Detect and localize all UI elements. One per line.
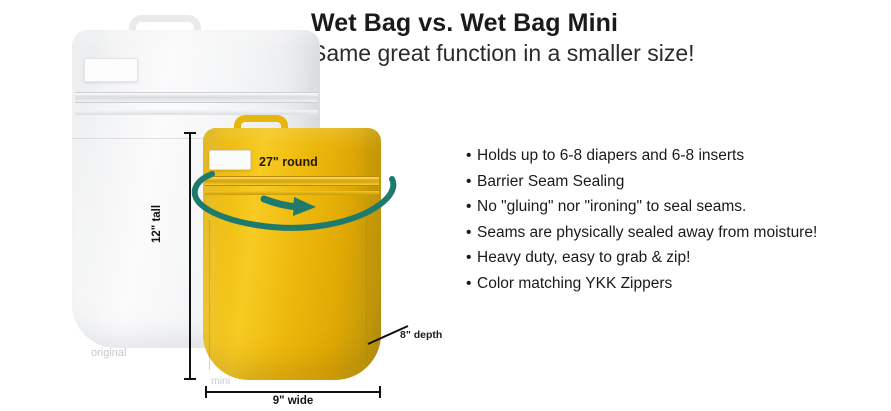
bullet-glyph: • xyxy=(466,194,477,220)
list-item: •Seams are physically sealed away from m… xyxy=(466,220,886,246)
list-item: •No "gluing" nor "ironing" to seal seams… xyxy=(466,194,886,220)
feature-list: •Holds up to 6-8 diapers and 6-8 inserts… xyxy=(466,143,886,296)
list-item-label: Seams are physically sealed away from mo… xyxy=(477,224,817,241)
list-item-label: Color matching YKK Zippers xyxy=(477,275,672,292)
bullet-glyph: • xyxy=(466,220,477,246)
list-item: •Barrier Seam Sealing xyxy=(466,169,886,195)
list-item: •Holds up to 6-8 diapers and 6-8 inserts xyxy=(466,143,886,169)
list-item-label: No "gluing" nor "ironing" to seal seams. xyxy=(477,198,746,215)
width-label: 9" wide xyxy=(205,395,381,407)
caption-original: original xyxy=(91,347,126,359)
zipper-secondary-original xyxy=(75,110,318,115)
zipper-original xyxy=(75,92,318,103)
circumference-label: 27" round xyxy=(259,155,318,169)
list-item-label: Holds up to 6-8 diapers and 6-8 inserts xyxy=(477,147,744,164)
caption-mini: mini xyxy=(211,375,230,387)
brand-tag-original xyxy=(84,58,138,82)
bullet-glyph: • xyxy=(466,169,477,195)
height-label: 12" tall xyxy=(151,205,163,243)
height-cap-top xyxy=(184,132,196,134)
depth-label: 8" depth xyxy=(400,329,442,341)
circumference-arrow-icon xyxy=(186,165,404,235)
bullet-glyph: • xyxy=(466,271,477,297)
page-subtitle: Same great function in a smaller size! xyxy=(311,39,731,68)
bullet-glyph: • xyxy=(466,245,477,271)
list-item: •Heavy duty, easy to grab & zip! xyxy=(466,245,886,271)
bullet-glyph: • xyxy=(466,143,477,169)
height-dimension-line xyxy=(189,132,191,380)
list-item-label: Barrier Seam Sealing xyxy=(477,173,624,190)
list-item: •Color matching YKK Zippers xyxy=(466,271,886,297)
page-title: Wet Bag vs. Wet Bag Mini xyxy=(311,8,731,38)
infographic-canvas: Wet Bag vs. Wet Bag Mini Same great func… xyxy=(0,0,891,411)
fabric-fold-left-mini xyxy=(209,220,210,370)
height-cap-bottom xyxy=(184,378,196,380)
headline-block: Wet Bag vs. Wet Bag Mini Same great func… xyxy=(311,8,731,68)
list-item-label: Heavy duty, easy to grab & zip! xyxy=(477,249,690,266)
width-dimension-line xyxy=(205,391,381,393)
